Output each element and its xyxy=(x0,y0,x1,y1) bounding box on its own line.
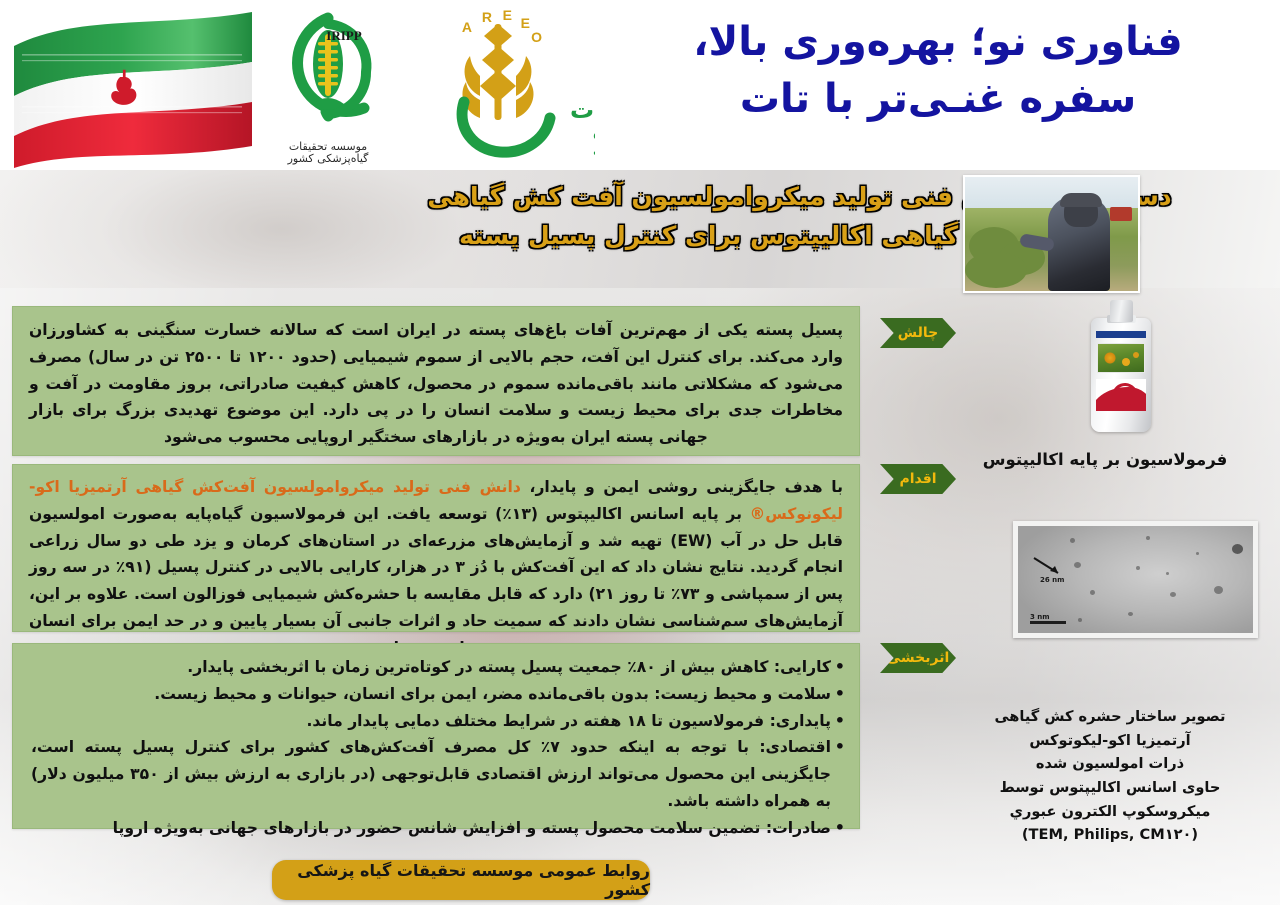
tem-micrograph: 26 nm 3 nm xyxy=(1013,521,1258,638)
photo-bush xyxy=(965,252,1027,288)
tem-particle xyxy=(1078,618,1082,622)
challenge-paragraph: پسیل پسته یکی از مهم‌ترین آفات باغ‌های پ… xyxy=(29,317,843,451)
svg-text:A: A xyxy=(462,19,472,35)
svg-text:E: E xyxy=(503,7,512,23)
list-item: اقتصادی: با توجه به اینکه حدود ۷٪ کل مصر… xyxy=(31,734,845,814)
tem-caption-line: میکروسکوپ الکترون عبوري xyxy=(950,800,1270,824)
tem-particle xyxy=(1146,536,1150,540)
section-impact: کارایی: کاهش بیش از ۸۰٪ جمعیت پسیل پسته … xyxy=(12,643,860,829)
tem-particle xyxy=(1074,562,1081,568)
slogan-line-2: سفره غنـی‌تر با تات xyxy=(618,71,1258,128)
iran-flag xyxy=(8,10,258,170)
bottle-label-image xyxy=(1097,343,1145,373)
svg-text:O: O xyxy=(531,29,542,45)
iripp-caption-2: گیاه‌پزشکی کشور xyxy=(287,152,370,165)
action-text-before: با هدف جایگزینی روشی ایمن و پایدار، xyxy=(521,478,843,496)
tem-particle xyxy=(1170,592,1176,597)
tem-caption-line: تصویر ساختار حشره کش گیاهی xyxy=(950,705,1270,729)
slogan-line-1: فناوری نو؛ بهره‌وری بالا، xyxy=(618,14,1258,71)
footer-text: روابط عمومی موسسه تحقیقات گیاه پزشکی کشو… xyxy=(272,861,650,899)
tem-particle xyxy=(1166,572,1169,575)
impact-bullet-list: کارایی: کاهش بیش از ۸۰٪ جمعیت پسیل پسته … xyxy=(31,654,845,842)
iripp-logo: IRIPP موسسه تحقیقات گیاه‌پزشکی کشور xyxy=(268,12,388,167)
tag-challenge-label: چالش xyxy=(898,325,938,341)
list-item: پایداری: فرمولاسیون تا ۱۸ هفته در شرایط … xyxy=(31,708,845,735)
svg-text:R: R xyxy=(482,9,492,25)
areeo-logo: A R E E O تـات سازمان تحقیقات، آموزش و ت… xyxy=(430,6,595,166)
tem-particle-label: 26 nm xyxy=(1040,576,1064,584)
svg-text:E: E xyxy=(521,15,530,31)
areeo-caption-2: و تـرویـج کشـاورزی xyxy=(593,143,595,158)
tem-particle xyxy=(1196,552,1199,555)
bottle-label-blue-band xyxy=(1096,331,1146,338)
iripp-acronym: IRIPP xyxy=(326,28,361,43)
poster-root: IRIPP موسسه تحقیقات گیاه‌پزشکی کشور xyxy=(0,0,1280,905)
product-registered-mark: ® xyxy=(750,505,766,523)
header-slogan: فناوری نو؛ بهره‌وری بالا، سفره غنـی‌تر ب… xyxy=(618,14,1258,128)
bottle-label-red-swirl xyxy=(1096,379,1146,411)
tem-caption-line: (TEM, Philips, CM۱۲۰) xyxy=(950,823,1270,847)
tem-particle xyxy=(1128,612,1133,616)
section-challenge: پسیل پسته یکی از مهم‌ترین آفات باغ‌های پ… xyxy=(12,306,860,456)
product-bottle-photo xyxy=(1085,300,1157,432)
tem-caption-line: ذرات امولسیون شده xyxy=(950,752,1270,776)
bottle-cap xyxy=(1110,300,1133,322)
tem-caption-line: آرتمیزیا اکو-لیکوتوکس xyxy=(950,729,1270,753)
footer-bar: روابط عمومی موسسه تحقیقات گیاه پزشکی کشو… xyxy=(272,860,650,900)
tem-particle xyxy=(1090,590,1095,595)
photo-person-hat xyxy=(1060,193,1102,207)
list-item: صادرات: تضمین سلامت محصول پسته و افزایش … xyxy=(31,815,845,842)
section-action: با هدف جایگزینی روشی ایمن و پایدار، دانش… xyxy=(12,464,860,632)
areeo-caption-1: سازمان تحقیقات، آموزش xyxy=(593,123,595,140)
tem-particle xyxy=(1136,566,1140,570)
tag-action-label: اقدام xyxy=(899,471,936,487)
tem-particle xyxy=(1070,538,1075,543)
tem-image-area: 26 nm 3 nm xyxy=(1018,526,1253,633)
action-text-after: بر پایه اسانس اکالیپتوس (۱۳٪) توسعه یافت… xyxy=(29,505,843,657)
list-item: سلامت و محیط زیست: بدون باقی‌مانده مضر، … xyxy=(31,681,845,708)
tem-caption: تصویر ساختار حشره کش گیاهی آرتمیزیا اکو-… xyxy=(950,705,1270,847)
photo-vehicle xyxy=(1110,207,1132,221)
tem-particle xyxy=(1214,586,1223,594)
field-inspection-photo xyxy=(963,175,1140,293)
tem-scale-bar xyxy=(1030,621,1066,624)
areeo-brand: تـات xyxy=(570,96,595,124)
tem-caption-line: حاوی اسانس اکالیپتوس توسط xyxy=(950,776,1270,800)
poster-header: IRIPP موسسه تحقیقات گیاه‌پزشکی کشور xyxy=(0,0,1280,170)
bottle-caption: فرمولاسیون بر پایه اکالیپتوس xyxy=(940,450,1270,469)
tem-arrow-icon xyxy=(1032,556,1066,578)
tag-impact-label: اثربخشی xyxy=(887,650,950,666)
tem-particle xyxy=(1232,544,1243,554)
action-paragraph: با هدف جایگزینی روشی ایمن و پایدار، دانش… xyxy=(29,474,843,662)
list-item: کارایی: کاهش بیش از ۸۰٪ جمعیت پسیل پسته … xyxy=(31,654,845,681)
tem-scale-label: 3 nm xyxy=(1030,613,1050,621)
